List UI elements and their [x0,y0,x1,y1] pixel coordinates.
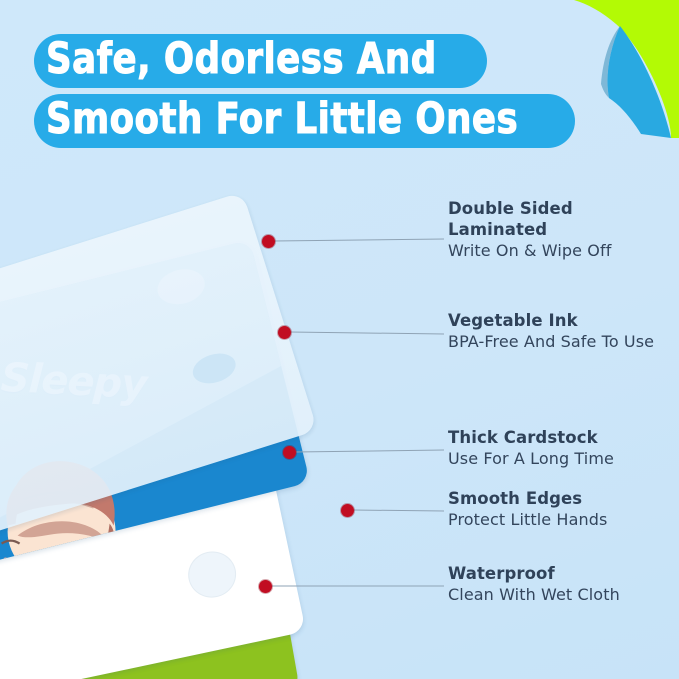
callout-dot-waterproof[interactable] [259,580,272,593]
callout-heading: Smooth Edges [448,488,607,509]
callout-dot-double-sided-laminated[interactable] [262,235,275,248]
callout-dot-smooth-edges[interactable] [341,504,354,517]
callout-waterproof: Waterproof Clean With Wet Cloth [448,563,620,606]
callout-subtitle: Protect Little Hands [448,509,607,531]
callout-double-sided-laminated: Double Sided Laminated Write On & Wipe O… [448,198,611,262]
callout-subtitle: Clean With Wet Cloth [448,584,620,606]
callout-heading: Waterproof [448,563,620,584]
callout-heading-line2: Laminated [448,219,611,240]
callout-vegetable-ink: Vegetable Ink BPA-Free And Safe To Use [448,310,654,353]
callout-smooth-edges: Smooth Edges Protect Little Hands [448,488,607,531]
callout-dot-thick-cardstock[interactable] [283,446,296,459]
callout-heading: Thick Cardstock [448,427,614,448]
callout-heading: Vegetable Ink [448,310,654,331]
infographic-canvas: Safe, Odorless And Smooth For Little One… [0,0,679,679]
callout-subtitle: Write On & Wipe Off [448,240,611,262]
callout-thick-cardstock: Thick Cardstock Use For A Long Time [448,427,614,470]
callout-subtitle: Use For A Long Time [448,448,614,470]
callout-dot-vegetable-ink[interactable] [278,326,291,339]
callout-heading: Double Sided [448,198,611,219]
callout-subtitle: BPA-Free And Safe To Use [448,331,654,353]
